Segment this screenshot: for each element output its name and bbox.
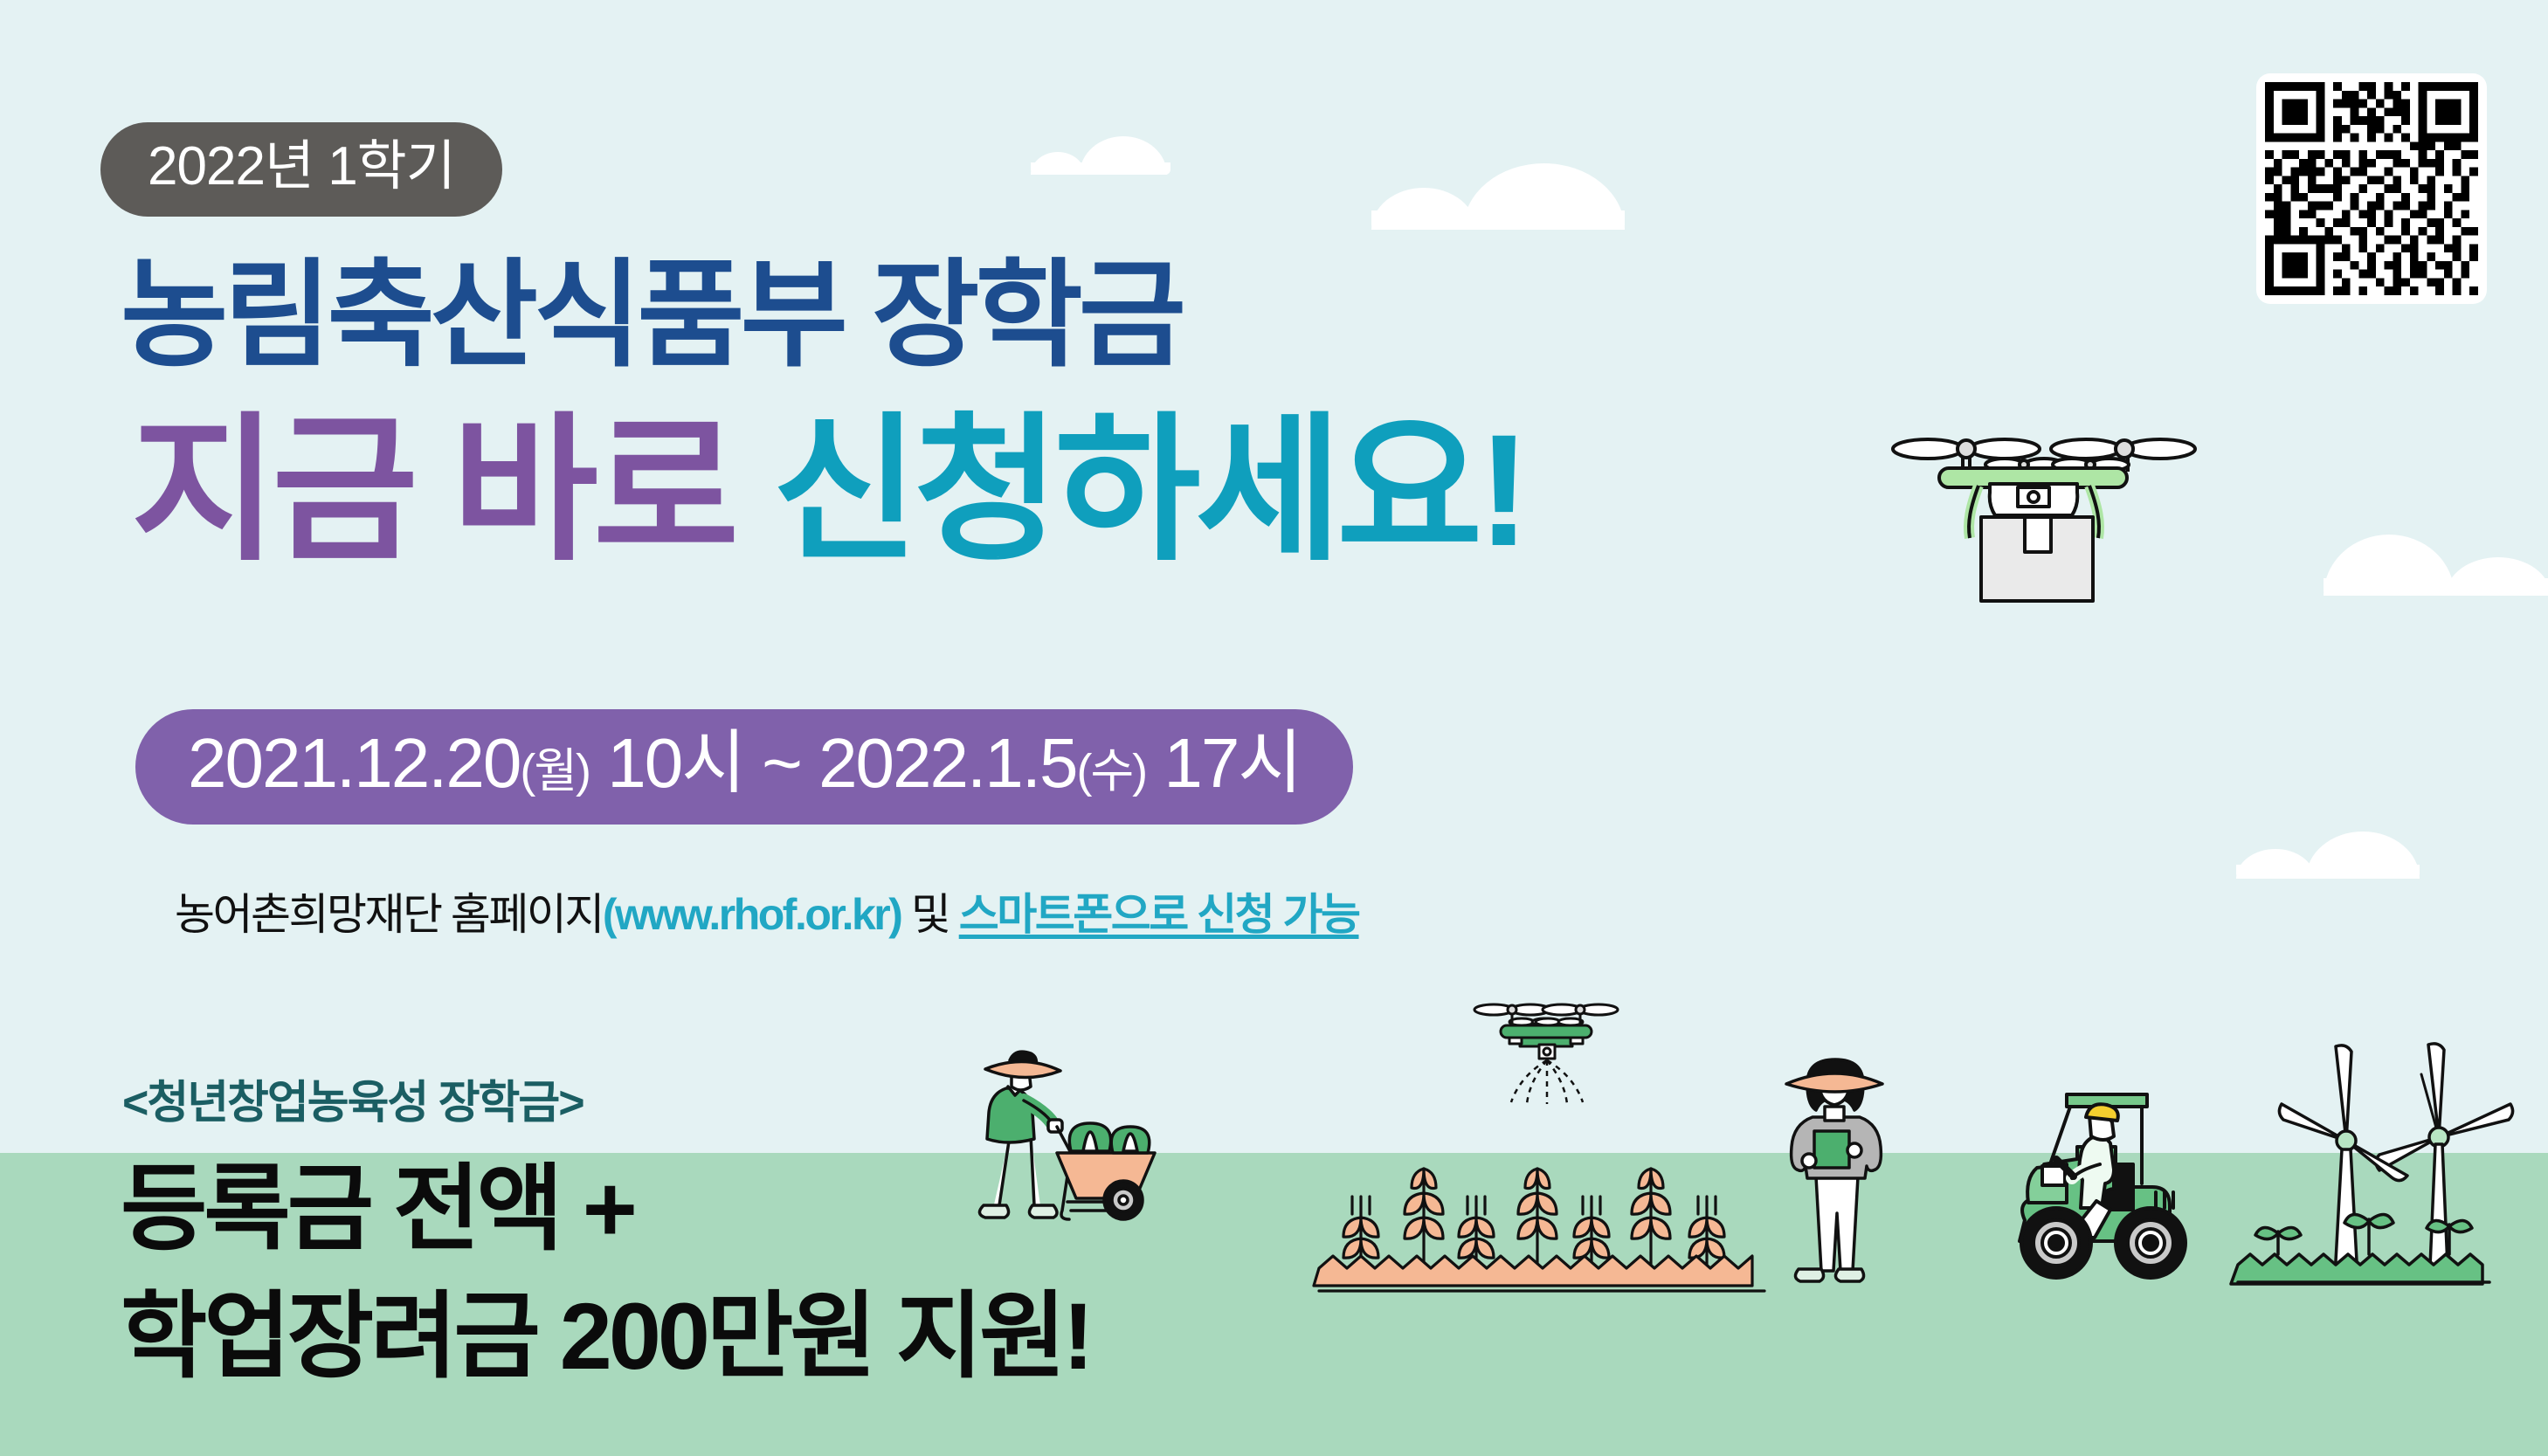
period-start-day: (월) xyxy=(520,745,590,797)
application-channel-text: 농어촌희망재단 홈페이지(www.rhof.or.kr) 및 스마트폰으로 신청… xyxy=(175,880,1359,942)
wind-turbines-illustration xyxy=(2236,1039,2516,1301)
period-start-time: 10시 xyxy=(607,724,744,802)
poster-root: 2022년 1학기 농림축산식품부 장학금 지금 바로신청하세요! 2021.1… xyxy=(0,0,2548,1456)
wheat-field-illustration xyxy=(1319,1153,1764,1310)
period-end-time: 17시 xyxy=(1164,724,1301,802)
cloud-icon xyxy=(1371,162,1625,230)
cloud-icon xyxy=(1031,135,1170,175)
cloud-icon xyxy=(2324,533,2548,596)
info-conjunction: 및 xyxy=(911,890,949,939)
headline-part-purple: 지금 바로 xyxy=(131,401,734,579)
headline-secondary: 지금 바로신청하세요! xyxy=(131,411,1525,569)
foundation-website-link[interactable]: (www.rhof.or.kr) xyxy=(603,890,901,939)
farmer-tablet-illustration xyxy=(1778,1052,1952,1306)
benefit-line-1: 등록금 전액 + xyxy=(121,1162,634,1256)
period-end-day: (수) xyxy=(1076,745,1146,797)
period-end-date: 2022.1.5 xyxy=(818,724,1076,802)
smartphone-apply-note: 스마트폰으로 신청 가능 xyxy=(959,890,1359,939)
period-start-date: 2021.12.20 xyxy=(188,724,520,802)
delivery-drone-illustration xyxy=(1887,411,2175,638)
application-period-pill: 2021.12.20(월) 10시 ~ 2022.1.5(수) 17시 xyxy=(135,709,1353,825)
cloud-icon xyxy=(2236,830,2420,879)
benefit-line-2: 학업장려금 200만원 지원! xyxy=(121,1289,1090,1384)
headline-part-teal: 신청하세요! xyxy=(772,401,1525,579)
page-title: 농림축산식품부 장학금 xyxy=(121,258,1182,375)
info-prefix: 농어촌희망재단 홈페이지 xyxy=(175,890,603,939)
period-separator: ~ xyxy=(762,724,801,802)
spraying-drone-illustration xyxy=(1467,996,1625,1118)
farmer-wheelbarrow-illustration xyxy=(961,1039,1188,1266)
tractor-illustration xyxy=(2009,1061,2271,1306)
qr-code[interactable] xyxy=(2256,73,2487,304)
scholarship-category-label: <청년창업농육성 장학금> xyxy=(122,1066,583,1131)
semester-badge: 2022년 1학기 xyxy=(100,122,502,217)
